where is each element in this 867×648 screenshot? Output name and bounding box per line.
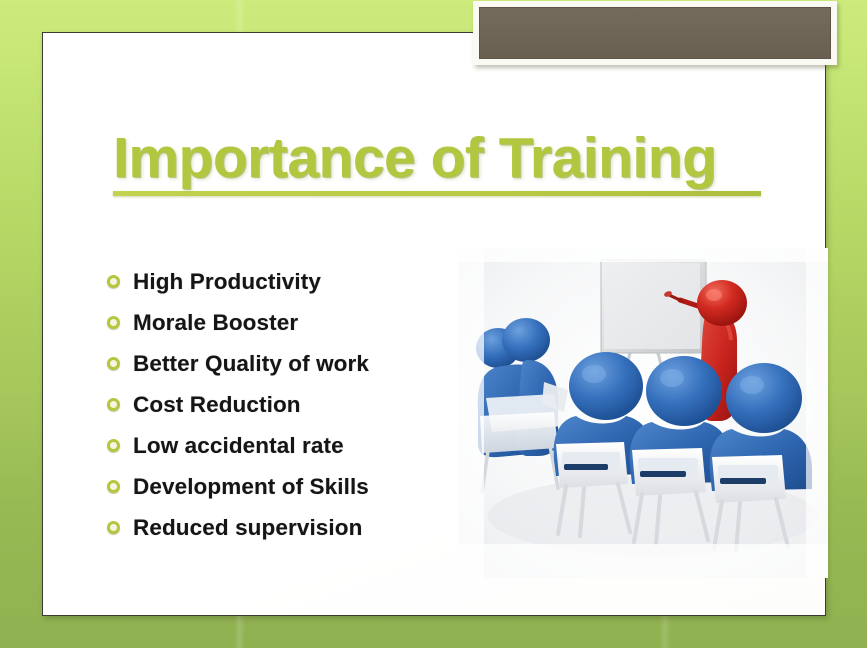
list-item[interactable]: Better Quality of work (107, 343, 467, 384)
ring-bullet-icon (107, 439, 120, 452)
list-item-label: Development of Skills (133, 474, 369, 500)
list-item-label: Low accidental rate (133, 433, 344, 459)
list-item-label: Cost Reduction (133, 392, 301, 418)
list-item-label: Morale Booster (133, 310, 298, 336)
list-item[interactable]: Reduced supervision (107, 507, 467, 548)
list-item[interactable]: Development of Skills (107, 466, 467, 507)
ring-bullet-icon (107, 398, 120, 411)
title-underline (113, 191, 761, 196)
list-item-label: Reduced supervision (133, 515, 362, 541)
list-item[interactable]: High Productivity (107, 261, 467, 302)
ring-bullet-icon (107, 521, 120, 534)
slide-canvas: Importance of Training High Productivity… (42, 32, 826, 616)
top-content-placeholder-fill (479, 7, 831, 59)
list-item[interactable]: Low accidental rate (107, 425, 467, 466)
training-classroom-illustration (458, 248, 828, 578)
bullet-list: High Productivity Morale Booster Better … (107, 261, 467, 548)
ring-bullet-icon (107, 480, 120, 493)
ring-bullet-icon (107, 357, 120, 370)
top-content-placeholder[interactable] (473, 1, 837, 65)
list-item[interactable]: Morale Booster (107, 302, 467, 343)
title-block: Importance of Training (113, 129, 813, 196)
list-item-label: Better Quality of work (133, 351, 369, 377)
ring-bullet-icon (107, 275, 120, 288)
ring-bullet-icon (107, 316, 120, 329)
page-title: Importance of Training (113, 129, 813, 189)
list-item[interactable]: Cost Reduction (107, 384, 467, 425)
list-item-label: High Productivity (133, 269, 321, 295)
